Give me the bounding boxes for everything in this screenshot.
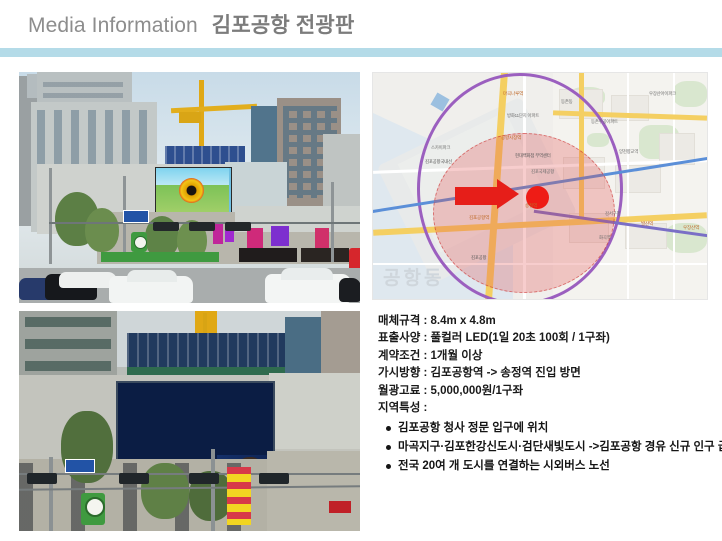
page-title-english: Media Information (28, 14, 198, 38)
map-label: 화곡역 (599, 235, 611, 241)
page-header: Media Information 김포공항 전광판 (0, 0, 722, 48)
street-pole-bottom-2 (211, 449, 215, 531)
neon-sign-4 (271, 226, 289, 246)
spec-line-contract: 계약조건 : 1개월 이상 (378, 348, 718, 365)
map-label: 방화11단지 아파트 (507, 113, 539, 119)
map-label: 우장산아이파크 (649, 91, 676, 97)
map-label: 발산역 (641, 221, 653, 227)
street-pole-1 (49, 168, 52, 264)
map-label: 우장산역 (683, 225, 699, 231)
car-white-suv-right-roof (281, 268, 333, 280)
storefront-awning-1 (239, 248, 297, 262)
bullet-dot-icon (386, 445, 391, 450)
map-label: 현대백화점 무역센터 (515, 153, 551, 159)
led-billboard-screen-bottom: WARNING HELICOBACTER WHO '헬리코박터는 1급 발암물질… (116, 381, 275, 461)
building-far-right (323, 134, 360, 210)
spec-line-size: 매체규격 : 8.4m x 4.8m (378, 313, 718, 330)
blue-road-sign-bottom (65, 459, 95, 473)
traffic-signal-bottom-1 (27, 473, 57, 484)
led-screen-eye-graphic (179, 178, 204, 203)
spec-line-visibility: 가시방향 : 김포공항역 -> 송정역 진입 방면 (378, 365, 718, 382)
street-clock-face-bottom (85, 497, 105, 517)
map-area-watermark: 공항동 (383, 263, 444, 290)
neon-sign-3 (247, 228, 263, 248)
map-label: 양천향교역 (619, 149, 638, 155)
spec-line-display: 표출사양 : 풀컬러 LED(1일 20초 100회 / 1구좌) (378, 330, 718, 347)
construction-crane-house (179, 112, 201, 123)
area-feature-text-2: 마곡지구·김포한강신도시·검단새빛도시 ->김포공항 경유 신규 인구 급증 (398, 438, 722, 457)
list-item: 김포공항 청사 정문 입구에 위치 (386, 419, 722, 438)
list-item: 전국 20여 개 도시를 연결하는 시외버스 노선 (386, 457, 722, 476)
list-item: 마곡지구·김포한강신도시·검단새빛도시 ->김포공항 경유 신규 인구 급증 (386, 438, 722, 457)
map-label: 송정역 (525, 203, 537, 209)
storefront-awning-2 (301, 248, 349, 262)
map-direction-arrow-head (497, 179, 519, 209)
map-direction-arrow-body (455, 187, 499, 205)
area-feature-list: 김포공항 청사 정문 입구에 위치 마곡지구·김포한강신도시·검단새빛도시 ->… (386, 419, 722, 476)
map-label: 김포공항국내선 (425, 159, 452, 165)
yellow-banner-sign-text (227, 467, 251, 525)
traffic-signal-3 (225, 222, 251, 231)
car-white-suv-left-roof (127, 270, 177, 282)
map-label: 등촌주공아파트 (591, 119, 618, 125)
map-label: 등촌동 (561, 99, 573, 105)
location-map[interactable]: 공항동 김포공항역김포공항국내선스카이파크현대백화점 무역센터김포국제공항김포공… (372, 72, 708, 300)
car-dark-right (339, 278, 360, 302)
area-feature-text-1: 김포공항 청사 정문 입구에 위치 (398, 419, 548, 438)
traffic-signal-1 (153, 222, 179, 231)
spec-line-price: 월광고료 : 5,000,000원/1구좌 (378, 383, 718, 400)
tree-2 (85, 208, 119, 252)
map-label: 스카이파크 (431, 145, 450, 151)
tree-bottom-2 (141, 463, 189, 519)
bullet-dot-icon (386, 426, 391, 431)
red-sign-bottom (329, 501, 351, 513)
media-spec-list: 매체규격 : 8.4m x 4.8m 표출사양 : 풀컬러 LED(1일 20초… (378, 313, 718, 417)
page-title-korean: 김포공항 전광판 (212, 9, 355, 39)
map-road-white-5 (673, 73, 675, 299)
street-pole-bottom-1 (49, 457, 53, 531)
map-label: 김포국제공항 (531, 169, 554, 175)
spec-line-area-heading: 지역특성 : (378, 400, 718, 417)
header-divider-rule (0, 48, 722, 57)
page-title: Media Information 김포공항 전광판 (28, 9, 354, 39)
area-feature-text-3: 전국 20여 개 도시를 연결하는 시외버스 노선 (398, 457, 610, 476)
green-barrier-band (101, 252, 219, 262)
neon-sign-5 (315, 228, 329, 248)
map-road-white-3 (627, 73, 629, 299)
map-label: 김포공항역 (469, 215, 489, 221)
wall-lower-right-bottom (267, 451, 360, 531)
traffic-signal-2 (189, 222, 215, 231)
map-label: 강서구청 (605, 211, 620, 217)
photo-street-view-top (19, 72, 360, 303)
street-clock-face (134, 236, 147, 249)
map-label: 공항시장역 (501, 135, 521, 141)
traffic-signal-bottom-2 (119, 473, 149, 484)
wall-right-bottom (269, 373, 360, 449)
map-label: 김포공항 (471, 255, 486, 261)
blue-road-sign (123, 210, 149, 223)
map-label: 마곡나루역 (503, 91, 523, 97)
map-park-2 (673, 81, 707, 107)
traffic-signal-bottom-3 (189, 473, 219, 484)
photo-led-billboard-closeup: WARNING HELICOBACTER WHO '헬리코박터는 1급 발암물질… (19, 311, 360, 531)
bullet-dot-icon (386, 464, 391, 469)
traffic-signal-bottom-4 (259, 473, 289, 484)
